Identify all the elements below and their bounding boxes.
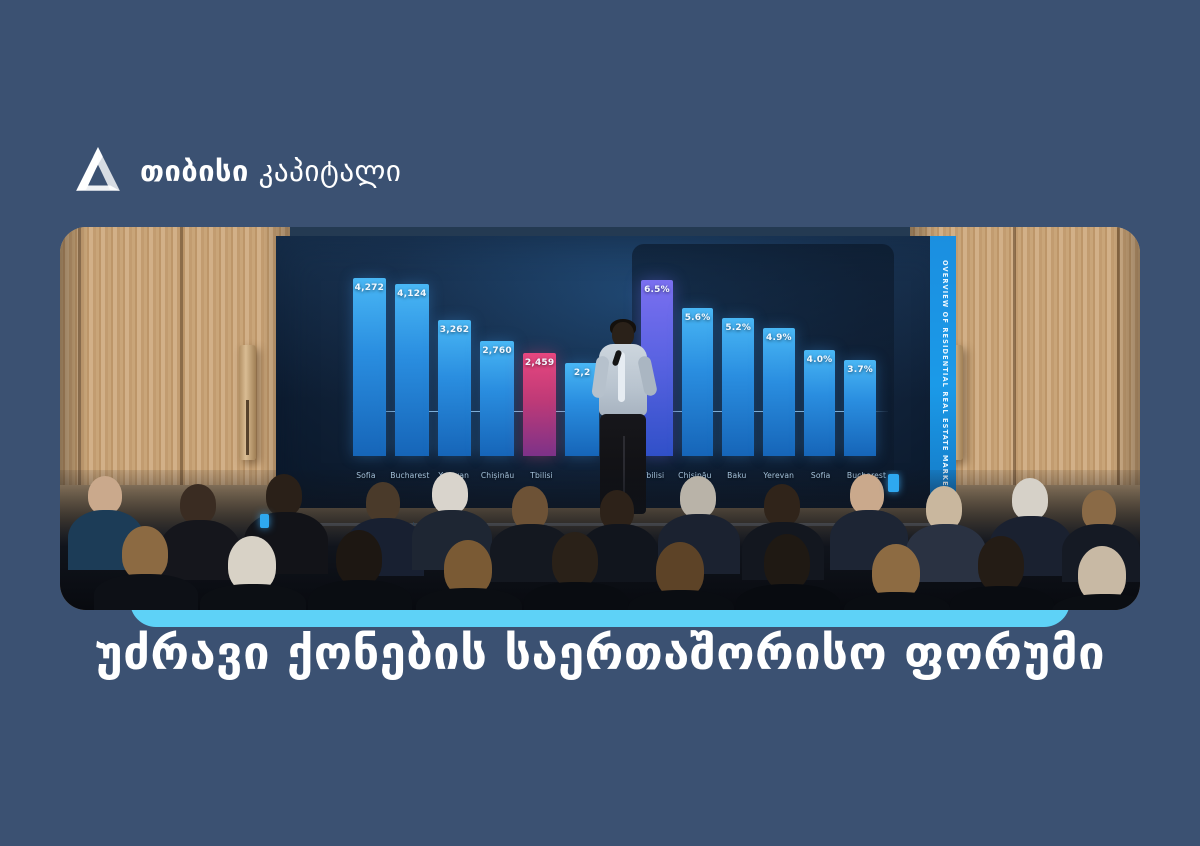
page-title: უძრავი ქონების საერთაშორისო ფორუმი (0, 626, 1200, 681)
bar-yield-chisinau: 5.6% (682, 308, 714, 456)
bar-yield-bucharest: 3.7% (844, 360, 876, 456)
bar-value-yield-chisinau: 5.6% (682, 313, 714, 323)
chart-rental-yield: 6.5% 5.6% 5.2% 4.9% (632, 244, 894, 502)
bar-value-bucharest: 4,124 (395, 289, 429, 299)
brand-name-light: კაპიტალი (259, 154, 402, 188)
door-handle-left-icon (239, 345, 256, 460)
bar-yield-yerevan: 4.9% (763, 328, 795, 456)
bar-value-tbilisi: 2,459 (523, 358, 557, 368)
bar-value-yield-tbilisi: 6.5% (641, 285, 673, 295)
bar-tbilisi-highlight: 2,459 (523, 353, 557, 456)
slide-side-tab: OVERVIEW OF RESIDENTIAL REAL ESTATE MARK… (930, 236, 956, 508)
bar-value-yield-yerevan: 4.9% (763, 333, 795, 343)
bar-value-yield-sofia: 4.0% (804, 355, 836, 365)
audience-crowd (60, 470, 1140, 610)
plot-area-right: 6.5% 5.6% 5.2% 4.9% (636, 248, 890, 456)
bar-yield-baku: 5.2% (722, 318, 754, 456)
bar-value-yield-bucharest: 3.7% (844, 365, 876, 375)
plot-area-left: 4,272 4,124 3,262 2,760 (350, 248, 608, 456)
conference-photo: 4,272 4,124 3,262 2,760 (60, 227, 1140, 610)
bar-value-yield-baku: 5.2% (722, 323, 754, 333)
bar-yerevan: 3,262 (438, 320, 472, 456)
smartphone-screen-icon-2 (260, 514, 269, 528)
chart-price-per-sqm: 4,272 4,124 3,262 2,760 (346, 244, 612, 502)
brand-lockup: თიბისი კაპიტალი (72, 146, 401, 196)
brand-name: თიბისი კაპიტალი (140, 154, 401, 188)
bar-chisinau: 2,760 (480, 341, 514, 456)
bar-value-yerevan: 3,262 (438, 325, 472, 335)
bar-value-chisinau: 2,760 (480, 346, 514, 356)
brand-name-bold: თიბისი (140, 154, 249, 188)
bar-sofia: 4,272 (353, 278, 387, 456)
bar-value-sofia: 4,272 (353, 283, 387, 293)
tbc-triangle-mark-icon (72, 146, 124, 196)
bar-yield-sofia: 4.0% (804, 350, 836, 456)
photo-card: 4,272 4,124 3,262 2,760 (60, 227, 1140, 610)
bar-bucharest: 4,124 (395, 284, 429, 456)
smartphone-screen-icon (888, 474, 899, 492)
poster-canvas: თიბისი კაპიტალი (0, 0, 1200, 846)
